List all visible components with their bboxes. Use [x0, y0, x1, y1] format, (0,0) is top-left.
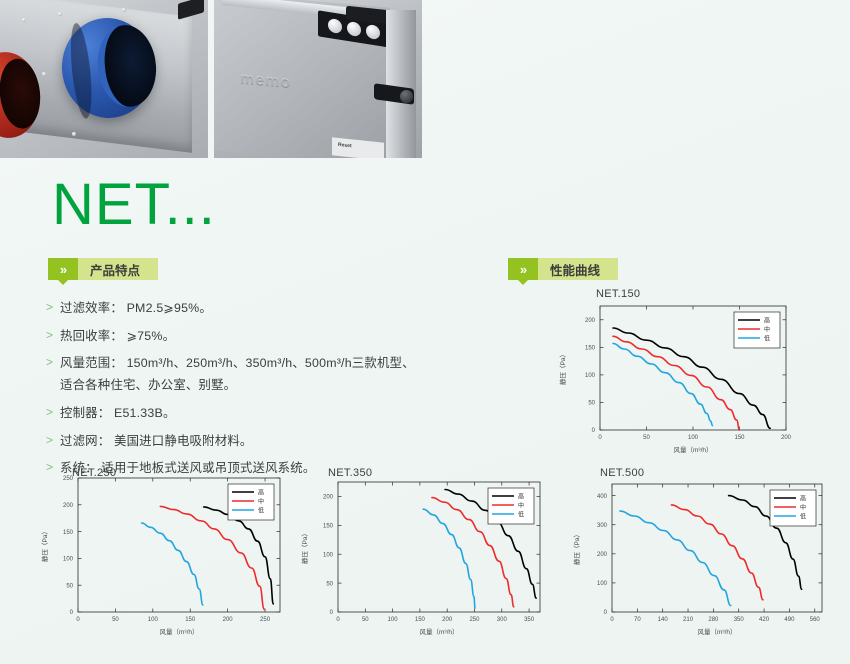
series-line: [142, 523, 203, 605]
series-line: [160, 506, 264, 609]
chart-plot-area: 0701402102803504204905600100200300400风量（…: [570, 468, 832, 660]
section-badge-curves: » 性能曲线: [508, 258, 618, 280]
series-line: [620, 511, 731, 605]
performance-chart-net250: NET.250050100150200250050100150200250风量（…: [38, 468, 288, 660]
feature-item: >过滤效率： PM2.5⩾95%。: [46, 300, 486, 317]
svg-text:350: 350: [524, 617, 535, 623]
svg-text:静压（Pa）: 静压（Pa）: [572, 531, 581, 565]
svg-text:低: 低: [800, 512, 806, 520]
feature-text-main: 风量范围： 150m³/h、250m³/h、350m³/h、500m³/h三款机…: [60, 356, 415, 370]
feature-text-continuation: 适合各种住宅、办公室、别墅。: [60, 377, 415, 394]
series-line: [671, 505, 763, 600]
series-line: [613, 344, 713, 426]
svg-text:0: 0: [598, 435, 602, 441]
chart-title: NET.150: [596, 288, 640, 300]
svg-text:250: 250: [260, 617, 271, 623]
series-line: [204, 507, 274, 604]
feature-text: 过滤效率： PM2.5⩾95%。: [60, 300, 212, 317]
svg-text:490: 490: [784, 617, 795, 623]
chart-title: NET.350: [328, 467, 372, 479]
svg-text:0: 0: [76, 617, 80, 623]
feature-text-main: 过滤效率： PM2.5⩾95%。: [60, 301, 212, 315]
svg-text:100: 100: [323, 552, 334, 558]
svg-text:0: 0: [330, 610, 334, 616]
product-feature-list: >过滤效率： PM2.5⩾95%。>热回收率： ⩾75%。>风量范围： 150m…: [46, 300, 486, 488]
svg-text:300: 300: [597, 523, 608, 529]
svg-text:200: 200: [442, 617, 453, 623]
svg-text:0: 0: [70, 610, 74, 616]
svg-text:200: 200: [223, 617, 234, 623]
feature-bullet-icon: >: [46, 300, 60, 315]
series-line: [423, 509, 475, 608]
control-button-1-icon: [328, 18, 342, 34]
badge-tail-triangle: [58, 280, 68, 285]
svg-text:200: 200: [63, 503, 74, 509]
svg-text:风量（m³/h）: 风量（m³/h）: [674, 446, 713, 454]
section-badge-features: » 产品特点: [48, 258, 158, 280]
feature-text-main: 控制器： E51.33B。: [60, 406, 176, 420]
series-line: [613, 336, 740, 430]
svg-text:高: 高: [518, 492, 524, 500]
svg-text:50: 50: [326, 581, 333, 587]
svg-text:风量（m³/h）: 风量（m³/h）: [160, 628, 199, 636]
svg-text:中: 中: [258, 497, 264, 505]
chart-title: NET.500: [600, 467, 644, 479]
feature-text: 风量范围： 150m³/h、250m³/h、350m³/h、500m³/h三款机…: [60, 355, 415, 393]
section-badge-curves-label: 性能曲线: [538, 258, 618, 280]
double-chevron-right-icon: »: [508, 258, 538, 280]
feature-item: >热回收率： ⩾75%。: [46, 328, 486, 345]
svg-text:50: 50: [66, 583, 73, 589]
svg-text:200: 200: [585, 318, 596, 324]
svg-text:200: 200: [323, 495, 334, 501]
svg-text:0: 0: [610, 617, 614, 623]
svg-text:中: 中: [518, 501, 524, 509]
svg-text:100: 100: [688, 435, 699, 441]
section-badge-features-label: 产品特点: [78, 258, 158, 280]
feature-text: 过滤网： 美国进口静电吸附材料。: [60, 433, 253, 450]
svg-text:560: 560: [810, 617, 821, 623]
photo-control-panel: memo Reset: [214, 0, 422, 158]
product-photo-strip: memo Reset: [0, 0, 422, 158]
feature-item: >控制器： E51.33B。: [46, 405, 486, 422]
control-button-2-icon: [347, 21, 361, 37]
svg-text:低: 低: [518, 510, 524, 518]
svg-text:150: 150: [415, 617, 426, 623]
feature-text-main: 过滤网： 美国进口静电吸附材料。: [60, 434, 253, 448]
svg-text:50: 50: [362, 617, 369, 623]
screw-icon: [58, 12, 62, 16]
latch-knob-icon: [400, 90, 413, 103]
chart-plot-area: 050100150200250300350050100150200风量（m³/h…: [298, 468, 548, 660]
svg-text:200: 200: [781, 435, 792, 441]
svg-text:150: 150: [323, 524, 334, 530]
feature-text: 控制器： E51.33B。: [60, 405, 176, 422]
svg-text:0: 0: [592, 428, 596, 434]
svg-text:低: 低: [258, 506, 264, 514]
svg-text:350: 350: [734, 617, 745, 623]
chart-plot-area: 050100150200050100150200风量（m³/h）静压（Pa）高中…: [556, 290, 796, 476]
screw-icon: [22, 18, 26, 22]
svg-text:140: 140: [658, 617, 669, 623]
svg-text:250: 250: [469, 617, 480, 623]
page-title: NET...: [52, 176, 216, 234]
svg-text:风量（m³/h）: 风量（m³/h）: [420, 628, 459, 636]
screw-icon: [122, 8, 126, 12]
svg-text:中: 中: [800, 503, 806, 511]
svg-text:中: 中: [764, 325, 770, 333]
photo-ventilation-unit-ducts: [0, 0, 208, 158]
performance-chart-net500: NET.500070140210280350420490560010020030…: [570, 468, 832, 660]
svg-text:280: 280: [708, 617, 719, 623]
svg-text:50: 50: [643, 435, 650, 441]
badge-tail-triangle: [518, 280, 528, 285]
svg-text:210: 210: [683, 617, 694, 623]
chart-plot-area: 050100150200250050100150200250风量（m³/h）静压…: [38, 468, 288, 660]
feature-item: >风量范围： 150m³/h、250m³/h、350m³/h、500m³/h三款…: [46, 355, 486, 393]
svg-text:0: 0: [604, 610, 608, 616]
screw-icon: [42, 72, 46, 76]
svg-text:100: 100: [388, 617, 399, 623]
control-button-3-icon: [366, 24, 380, 40]
svg-text:风量（m³/h）: 风量（m³/h）: [698, 628, 737, 636]
feature-bullet-icon: >: [46, 405, 60, 420]
svg-text:100: 100: [597, 581, 608, 587]
svg-text:150: 150: [185, 617, 196, 623]
chart-title: NET.250: [72, 467, 116, 479]
double-chevron-right-icon: »: [48, 258, 78, 280]
svg-text:静压（Pa）: 静压（Pa）: [40, 528, 49, 562]
svg-text:静压（Pa）: 静压（Pa）: [300, 530, 309, 564]
svg-text:低: 低: [764, 334, 770, 342]
feature-text: 热回收率： ⩾75%。: [60, 328, 175, 345]
svg-text:高: 高: [764, 316, 770, 324]
svg-text:100: 100: [63, 557, 74, 563]
svg-text:200: 200: [597, 552, 608, 558]
panel-side-flange: [386, 10, 416, 158]
svg-text:高: 高: [800, 494, 806, 502]
feature-bullet-icon: >: [46, 433, 60, 448]
feature-text-main: 热回收率： ⩾75%。: [60, 329, 175, 343]
svg-text:100: 100: [148, 617, 159, 623]
svg-text:50: 50: [588, 401, 595, 407]
svg-text:300: 300: [497, 617, 508, 623]
svg-text:150: 150: [585, 346, 596, 352]
feature-bullet-icon: >: [46, 328, 60, 343]
screw-icon: [72, 132, 76, 136]
svg-text:0: 0: [336, 617, 340, 623]
svg-text:静压（Pa）: 静压（Pa）: [558, 351, 567, 385]
svg-text:420: 420: [759, 617, 770, 623]
performance-chart-net150: NET.150050100150200050100150200风量（m³/h）静…: [556, 290, 796, 476]
feature-bullet-icon: >: [46, 355, 60, 370]
performance-chart-net350: NET.350050100150200250300350050100150200…: [298, 468, 548, 660]
svg-text:100: 100: [585, 373, 596, 379]
feature-item: >过滤网： 美国进口静电吸附材料。: [46, 433, 486, 450]
svg-text:高: 高: [258, 488, 264, 496]
svg-text:70: 70: [634, 617, 641, 623]
svg-text:150: 150: [63, 530, 74, 536]
svg-text:150: 150: [734, 435, 745, 441]
svg-text:400: 400: [597, 494, 608, 500]
svg-text:50: 50: [112, 617, 119, 623]
